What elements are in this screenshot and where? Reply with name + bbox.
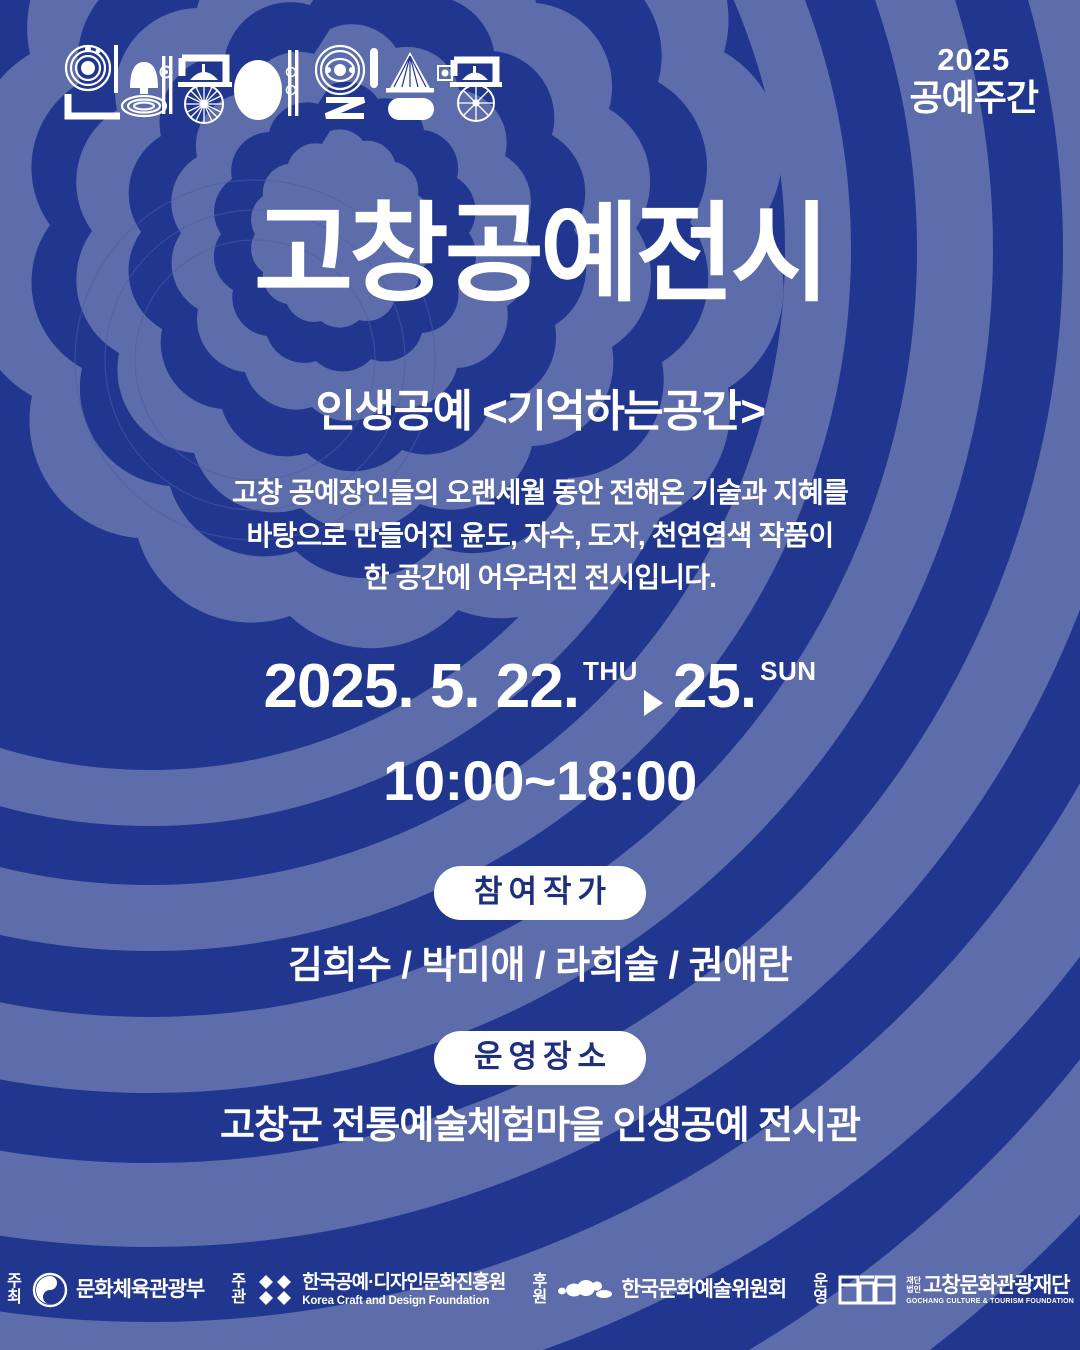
org-organizer: 주 관 한국공예·디자인문화진흥원 Korea Craft and Design… xyxy=(230,1272,505,1308)
org-role-host: 주 최 xyxy=(6,1274,23,1307)
org-name-organizer: 한국공예·디자인문화진흥원 Korea Craft and Design Fou… xyxy=(302,1272,505,1307)
schedule-time: 10:00~18:00 xyxy=(0,748,1080,813)
description-line-3: 한 공간에 어우러진 전시입니다. xyxy=(0,557,1080,600)
four-diamond-icon xyxy=(256,1272,294,1308)
page-title: 고창공예전시 xyxy=(0,196,1080,313)
org-name-sponsor: 한국문화예술위원회 xyxy=(621,1278,786,1302)
org-role-sponsor: 후 원 xyxy=(531,1274,548,1307)
description-line-1: 고창 공예장인들의 오랜세월 동안 전해온 기술과 지혜를 xyxy=(0,472,1080,515)
venue-name: 고창군 전통예술체험마을 인생공예 전시관 xyxy=(0,1094,1080,1149)
poster-content: 고창공예전시 인생공예 <기억하는공간> 고창 공예장인들의 오랜세월 동안 전… xyxy=(0,0,1080,1350)
description-line-2: 바탕으로 만들어진 윤도, 자수, 도자, 천연염색 작품이 xyxy=(0,515,1080,558)
org-name-host: 문화체육관광부 xyxy=(76,1278,204,1302)
date-range-arrow-icon xyxy=(644,690,663,716)
artists-names: 김희수 / 박미애 / 라희술 / 권애란 xyxy=(0,934,1080,989)
taegeuk-icon xyxy=(32,1272,68,1308)
footer-organizations: 주 최 문화체육관광부 주 관 xyxy=(0,1230,1080,1350)
artists-section-header: 참여작가 xyxy=(0,866,1080,920)
end-date: 25. xyxy=(673,656,756,718)
schedule-dates: 2025. 5. 22. THU 25. SUN xyxy=(0,656,1080,718)
start-date: 2025. 5. 22. xyxy=(263,656,579,718)
start-weekday: THU xyxy=(583,658,638,684)
org-name-operator: 재단 법인 고창문화관광재단 GOCHANG CULTURE & TOURISM… xyxy=(906,1274,1074,1306)
org-role-organizer: 주 관 xyxy=(230,1274,247,1307)
exhibition-subtitle: 인생공예 <기억하는공간> xyxy=(0,375,1080,439)
venue-section-header: 운영장소 xyxy=(0,1031,1080,1085)
org-host: 주 최 문화체육관광부 xyxy=(6,1272,204,1308)
exhibition-description: 고창 공예장인들의 오랜세월 동안 전해온 기술과 지혜를 바탕으로 만들어진 … xyxy=(0,472,1080,600)
gochang-gate-icon xyxy=(838,1273,898,1307)
artists-badge: 참여작가 xyxy=(434,866,646,920)
arko-dots-icon xyxy=(557,1277,613,1303)
org-role-operator: 운 영 xyxy=(812,1274,829,1307)
venue-badge: 운영장소 xyxy=(434,1031,646,1085)
end-weekday: SUN xyxy=(760,658,816,684)
org-operator: 운 영 재단 xyxy=(812,1273,1074,1307)
poster-canvas: 2025 공예주간 고창공예전시 인생공예 <기억하는공간> 고창 공예장인들의… xyxy=(0,0,1080,1350)
org-sponsor: 후 원 한국문화예술위원회 xyxy=(531,1274,786,1307)
org-legal-prefix-row: 재단 법인 고창문화관광재단 xyxy=(906,1274,1074,1298)
org-legal-prefix: 재단 법인 xyxy=(906,1277,921,1294)
